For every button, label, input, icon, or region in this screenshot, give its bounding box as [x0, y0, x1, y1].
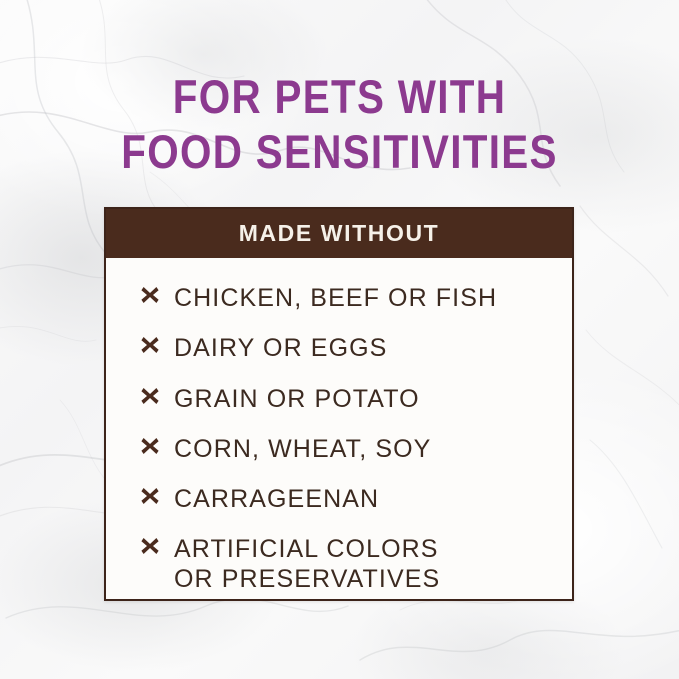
x-mark-icon [140, 386, 160, 412]
page-title-line-2: FOOD SENSITIVITIES [48, 129, 632, 175]
x-mark-icon [140, 486, 160, 512]
list-item: CARRAGEENAN [140, 485, 572, 514]
list-item-label: CHICKEN, BEEF OR FISH [174, 284, 497, 313]
list-item-label: CORN, WHEAT, SOY [174, 435, 431, 464]
made-without-card: MADE WITHOUT CHICKEN, BEEF OR FISH DAIRY… [104, 207, 574, 601]
made-without-header-label: MADE WITHOUT [239, 220, 440, 247]
x-mark-icon [140, 285, 160, 311]
page-title: FOR PETS WITH FOOD SENSITIVITIES [0, 74, 679, 175]
made-without-card-header: MADE WITHOUT [106, 209, 572, 258]
product-claim-graphic: FOR PETS WITH FOOD SENSITIVITIES MADE WI… [0, 0, 679, 679]
list-item-label: GRAIN OR POTATO [174, 385, 420, 414]
page-title-line-1: FOR PETS WITH [48, 74, 632, 120]
x-mark-icon [140, 536, 160, 562]
list-item-label: ARTIFICIAL COLORS OR PRESERVATIVES [174, 535, 440, 594]
list-item: CORN, WHEAT, SOY [140, 435, 572, 464]
list-item-label: CARRAGEENAN [174, 485, 379, 514]
list-item: DAIRY OR EGGS [140, 334, 572, 363]
x-mark-icon [140, 335, 160, 361]
x-mark-icon [140, 436, 160, 462]
list-item: CHICKEN, BEEF OR FISH [140, 284, 572, 313]
list-item-label: DAIRY OR EGGS [174, 334, 387, 363]
list-item: ARTIFICIAL COLORS OR PRESERVATIVES [140, 535, 572, 594]
list-item: GRAIN OR POTATO [140, 385, 572, 414]
made-without-list: CHICKEN, BEEF OR FISH DAIRY OR EGGS GRAI… [106, 258, 572, 594]
